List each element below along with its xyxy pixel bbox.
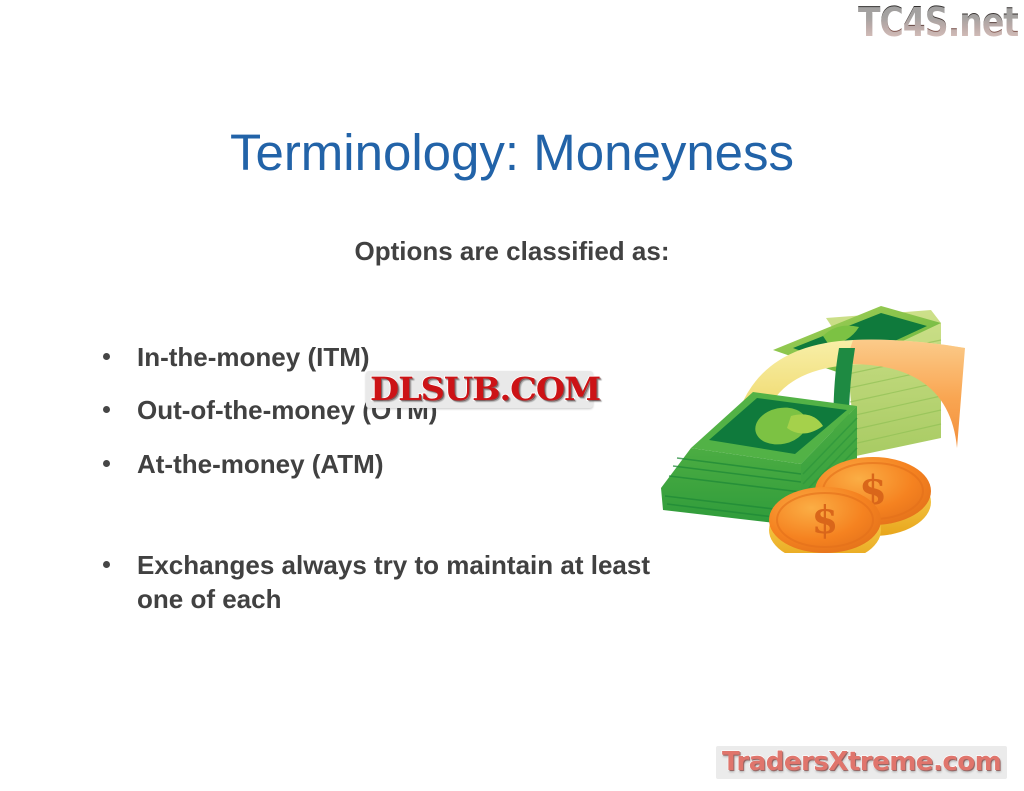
watermark-dlsub-text: DLSUB.COM (370, 373, 600, 405)
coin-front: $ (769, 487, 881, 553)
money-stack-illustration: $ $ (641, 288, 971, 553)
subtitle: Options are classified as: (0, 236, 1024, 267)
bullet-list-moneyness: In-the-money (ITM) Out-of-the-money (OTM… (96, 340, 656, 500)
bullet-list-exchanges: Exchanges always try to maintain at leas… (96, 548, 656, 636)
list-item: Exchanges always try to maintain at leas… (96, 548, 656, 617)
svg-text:$: $ (812, 497, 838, 542)
slide-canvas: TC4S.net Terminology: Moneyness Options … (0, 0, 1024, 791)
page-title: Terminology: Moneyness (0, 123, 1024, 182)
watermark-dlsub: DLSUB.COM (366, 371, 593, 408)
brand-logo-tc4s: TC4S.net (858, 2, 1018, 43)
list-item: At-the-money (ATM) (96, 447, 656, 481)
watermark-tradersxtreme: TradersXtreme.com (716, 746, 1007, 779)
watermark-tradersxtreme-text: TradersXtreme.com (722, 749, 1001, 775)
